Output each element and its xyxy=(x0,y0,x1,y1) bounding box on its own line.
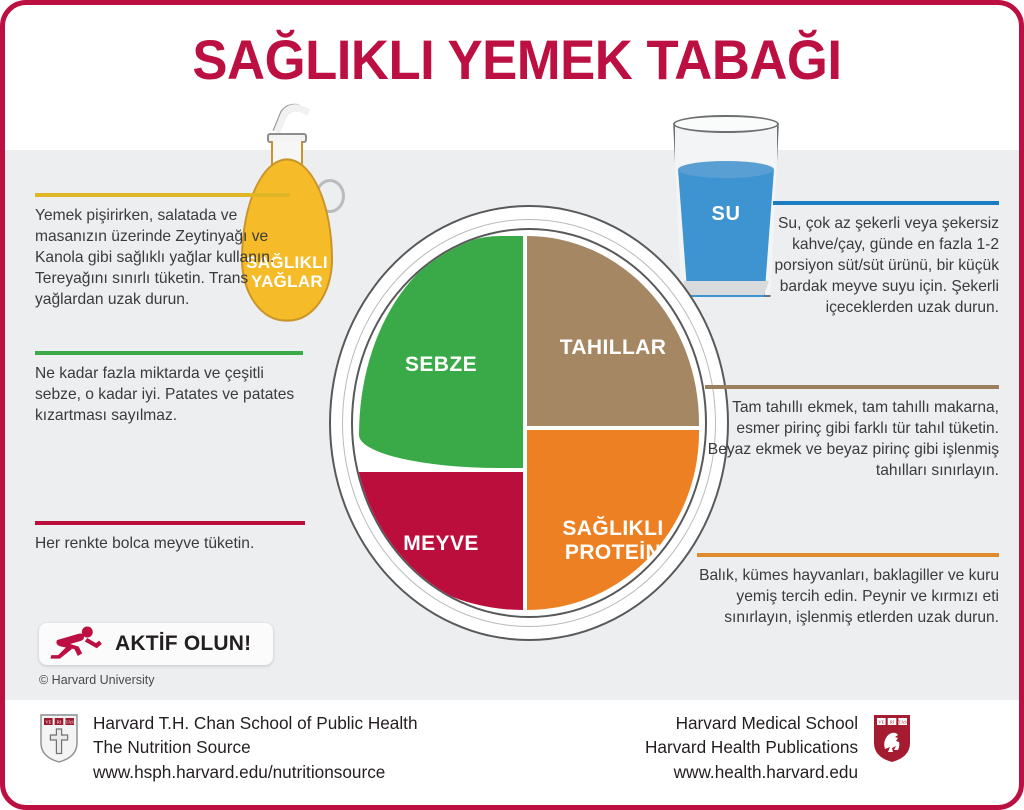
water-glass-surface-icon xyxy=(678,161,774,178)
plate-diagram: SEBZE MEYVE TAHILLAR SAĞLIKLI PROTEİN xyxy=(329,189,729,657)
page-title: SAĞLIKLI YEMEK TABAĞI xyxy=(36,27,999,92)
callout-rule-water xyxy=(773,201,999,205)
footer-right-line-3[interactable]: www.health.harvard.edu xyxy=(645,760,858,784)
healthy-eating-plate-infographic: SAĞLIKLI YEMEK TABAĞI SAĞLIKLI YAĞLAR SU… xyxy=(0,0,1024,810)
plate-segment-protein[interactable]: SAĞLIKLI PROTEİN xyxy=(527,430,699,610)
plate-segment-vegetables-label: SEBZE xyxy=(405,353,477,377)
plate-segment-grains-label: TAHILLAR xyxy=(560,336,667,360)
copyright-notice: © Harvard University xyxy=(39,673,155,687)
callout-text-healthy-oils: Yemek pişirirken, salatada ve masanızın … xyxy=(35,206,290,310)
plate-segment-fruits-label: MEYVE xyxy=(403,532,479,556)
callout-protein: Balık, kümes hayvanları, baklagiller ve … xyxy=(697,553,999,629)
water-glass-rim-icon xyxy=(673,115,779,133)
callout-text-fruits: Her renkte bolca meyve tüketin. xyxy=(35,534,305,555)
callout-healthy-oils: Yemek pişirirken, salatada ve masanızın … xyxy=(35,193,290,310)
callout-vegetables: Ne kadar fazla miktarda ve çeşitli sebze… xyxy=(35,351,303,427)
footer-right-line-2: Harvard Health Publications xyxy=(645,735,858,759)
svg-text:TAS: TAS xyxy=(66,720,75,725)
callout-rule-healthy-oils xyxy=(35,193,290,197)
callout-water: Su, çok az şekerli veya şekersiz kahve/ç… xyxy=(773,201,999,318)
stay-active-button[interactable]: AKTİF OLUN! xyxy=(39,623,273,665)
footer-harvard-chan: VE RI TAS Harvard T.H. Chan School of Pu… xyxy=(39,711,418,784)
footer-harvard-medical-lines: Harvard Medical School Harvard Health Pu… xyxy=(645,711,858,784)
plate-segment-vegetables[interactable]: SEBZE xyxy=(359,236,523,468)
callout-rule-fruits xyxy=(35,521,305,525)
svg-text:RI: RI xyxy=(57,720,62,725)
callout-text-vegetables: Ne kadar fazla miktarda ve çeşitli sebze… xyxy=(35,364,303,427)
callout-text-water: Su, çok az şekerli veya şekersiz kahve/ç… xyxy=(773,214,999,318)
footer-left-line-3[interactable]: www.hsph.harvard.edu/nutritionsource xyxy=(93,760,418,784)
footer-left-line-2: The Nutrition Source xyxy=(93,735,418,759)
plate-segment-fruits[interactable]: MEYVE xyxy=(359,472,523,610)
protein-label-line-1: SAĞLIKLI xyxy=(562,517,663,540)
footer-left-line-1: Harvard T.H. Chan School of Public Healt… xyxy=(93,711,418,735)
footer-harvard-chan-lines: Harvard T.H. Chan School of Public Healt… xyxy=(93,711,418,784)
harvard-shield-icon: VE RI TAS xyxy=(39,713,79,763)
callout-fruits: Her renkte bolca meyve tüketin. xyxy=(35,521,305,555)
protein-label-line-2: PROTEİN xyxy=(565,541,661,564)
svg-text:TAS: TAS xyxy=(899,720,908,725)
plate-segment-grains[interactable]: TAHILLAR xyxy=(527,236,699,426)
plate-inner-area: SEBZE MEYVE TAHILLAR SAĞLIKLI PROTEİN xyxy=(351,228,707,618)
callout-grains: Tam tahıllı ekmek, tam tahıllı makarna, … xyxy=(705,385,999,482)
running-person-icon xyxy=(49,626,105,662)
callout-text-protein: Balık, kümes hayvanları, baklagiller ve … xyxy=(697,566,999,629)
callout-rule-protein xyxy=(697,553,999,557)
stay-active-button-label: AKTİF OLUN! xyxy=(115,632,251,656)
svg-text:VE: VE xyxy=(45,720,51,725)
svg-text:VE: VE xyxy=(878,720,884,725)
plate-segment-protein-label: SAĞLIKLI PROTEİN xyxy=(562,517,663,565)
callout-rule-grains xyxy=(705,385,999,389)
footer-right-line-1: Harvard Medical School xyxy=(645,711,858,735)
callout-text-grains: Tam tahıllı ekmek, tam tahıllı makarna, … xyxy=(705,398,999,482)
svg-text:RI: RI xyxy=(890,720,895,725)
harvard-medical-shield-icon: VE RI TAS xyxy=(872,713,912,763)
footer-harvard-medical: Harvard Medical School Harvard Health Pu… xyxy=(645,711,912,784)
callout-rule-vegetables xyxy=(35,351,303,355)
